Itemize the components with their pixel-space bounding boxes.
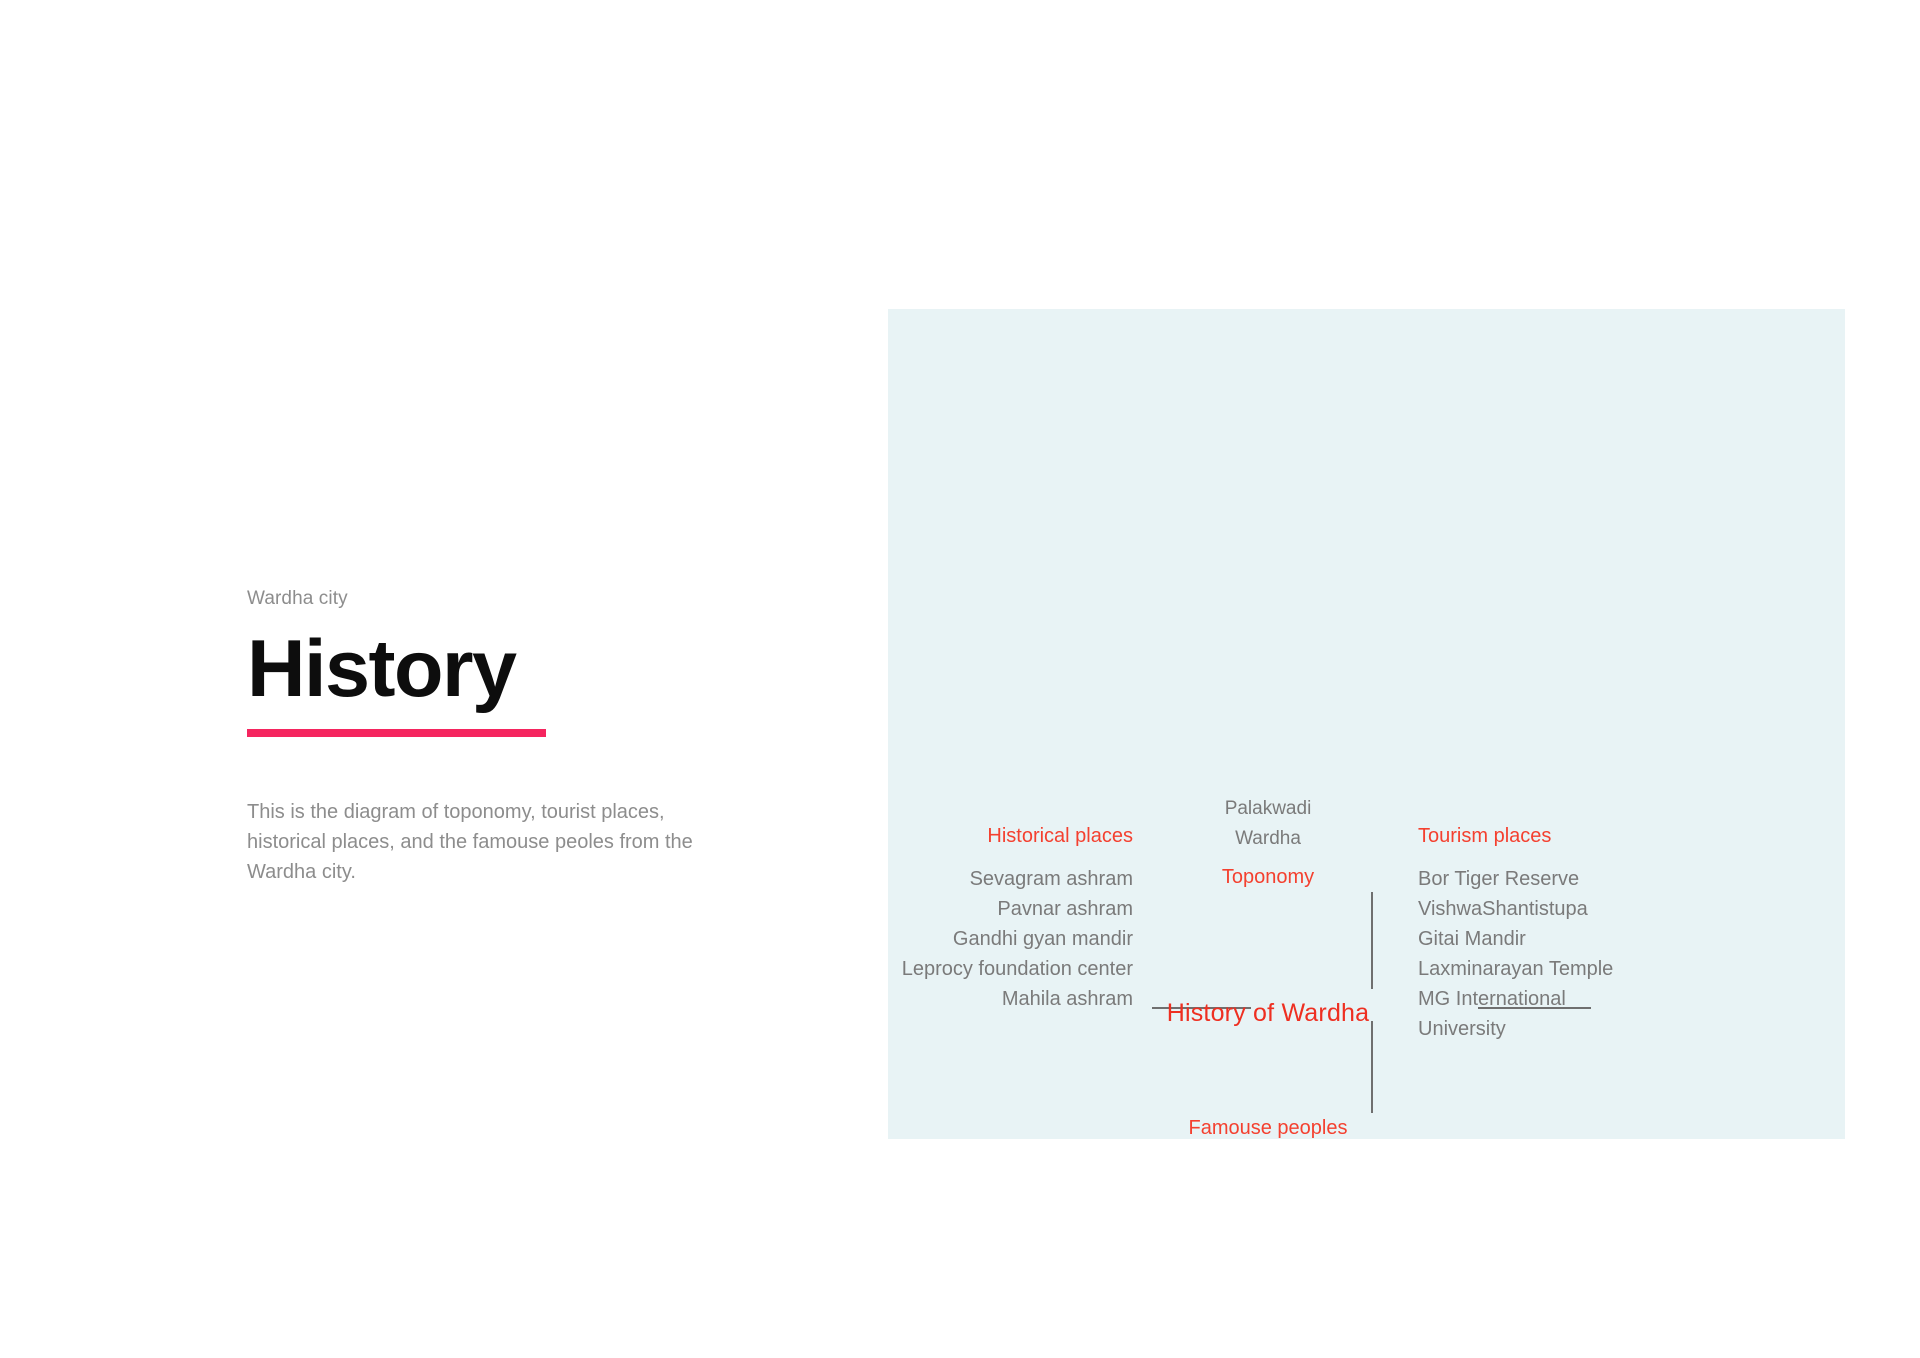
eyebrow-label: Wardha city — [247, 586, 767, 612]
list-item: Pavnar ashram — [778, 894, 1133, 924]
list-item: Sevagram ashram — [778, 864, 1133, 894]
famouse-peoples-branch-title: Famouse peoples — [1108, 1113, 1428, 1143]
diagram-panel: Palakwadi Wardha Toponomy Historical pla… — [888, 309, 1845, 1139]
list-item: Gitai Mandir — [1418, 924, 1648, 954]
toponomy-values: Palakwadi Wardha — [1108, 794, 1428, 854]
connector-line-top — [1371, 892, 1373, 989]
description-text: This is the diagram of toponomy, tourist… — [247, 797, 747, 887]
diagram-branch-toponomy: Palakwadi Wardha Toponomy — [1108, 794, 1428, 892]
list-item: VishwaShantistupa — [1418, 894, 1648, 924]
tourism-places-branch-title: Tourism places — [1418, 821, 1648, 851]
title-underline-accent — [247, 729, 546, 737]
list-item: Mahila ashram — [778, 984, 1133, 1014]
diagram-branch-historical-places: Historical places Sevagram ashram Pavnar… — [778, 821, 1133, 1014]
list-item: Laxminarayan Temple — [1418, 954, 1648, 984]
historical-places-branch-title: Historical places — [778, 821, 1133, 851]
list-item: Leprocy foundation center — [778, 954, 1133, 984]
list-item: Bor Tiger Reserve — [1418, 864, 1648, 894]
diagram-branch-famouse-peoples: Famouse peoples — [1108, 1113, 1428, 1143]
list-item: MG International University — [1418, 984, 1648, 1044]
connector-line-bottom — [1371, 1021, 1373, 1113]
toponomy-branch-title: Toponomy — [1108, 862, 1428, 892]
list-item: Gandhi gyan mandir — [778, 924, 1133, 954]
intro-panel: Wardha city History This is the diagram … — [247, 586, 767, 907]
page-title: History — [247, 626, 767, 712]
diagram-branch-tourism-places: Tourism places Bor Tiger Reserve VishwaS… — [1418, 821, 1648, 1044]
diagram-center-node: History of Wardha — [1148, 998, 1388, 1028]
